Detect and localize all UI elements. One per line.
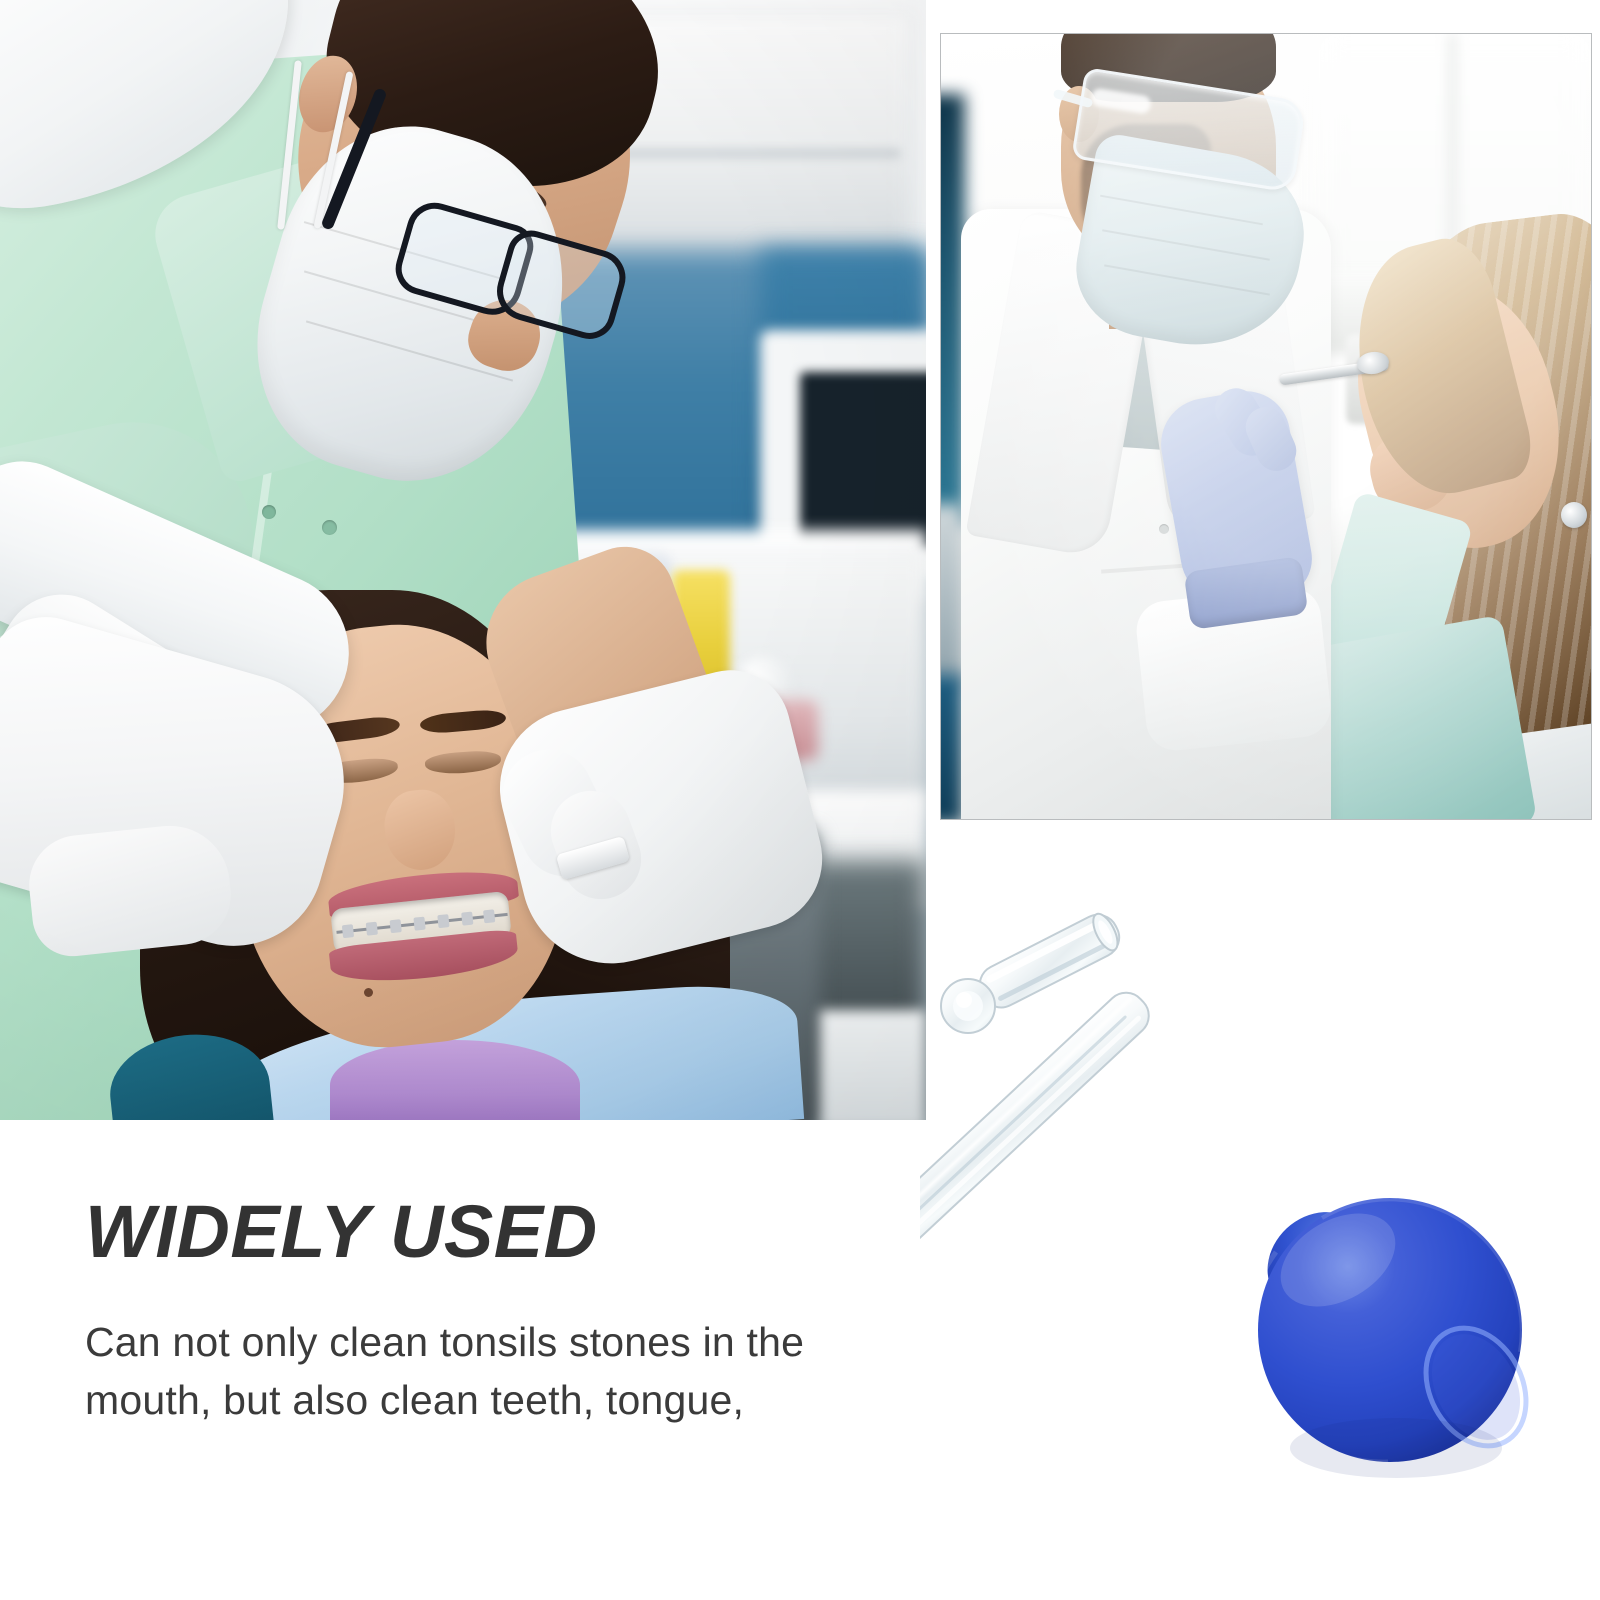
patient-collar bbox=[330, 1040, 580, 1120]
body-line-2: mouth, but also clean teeth, tongue, bbox=[85, 1371, 885, 1429]
photo-dentist-braces-patient bbox=[0, 0, 926, 1120]
marketing-copy-block: WIDELY USED Can not only clean tonsils s… bbox=[85, 1195, 885, 1429]
braces-bracket bbox=[437, 914, 449, 928]
page-title: WIDELY USED bbox=[85, 1195, 885, 1269]
braces-bracket bbox=[390, 919, 402, 933]
braces-bracket bbox=[461, 912, 473, 926]
scrub-button-upper bbox=[262, 505, 276, 519]
scrub-button-lower bbox=[322, 520, 337, 535]
blue-rubber-bulb bbox=[1247, 1192, 1546, 1478]
braces-bracket bbox=[413, 917, 425, 931]
hair-clip bbox=[1561, 502, 1587, 528]
clinic-left-wall-mid bbox=[940, 504, 963, 684]
braces-bracket bbox=[366, 922, 378, 936]
promo-canvas: WIDELY USED Can not only clean tonsils s… bbox=[0, 0, 1600, 1600]
patient-mole bbox=[364, 988, 373, 997]
coat-button-lower bbox=[1159, 524, 1169, 534]
braces-bracket bbox=[483, 909, 495, 923]
clinic-monitor-screen bbox=[800, 372, 926, 547]
photo-dentist-blonde-patient bbox=[940, 33, 1592, 820]
braces-bracket bbox=[342, 924, 354, 938]
product-image-glass-irrigator bbox=[920, 900, 1600, 1600]
body-line-1: Can not only clean tonsils stones in the bbox=[85, 1313, 885, 1371]
clinic-left-wall-low bbox=[940, 674, 963, 820]
clinic-light-panel bbox=[820, 1010, 926, 1120]
glass-tube-body bbox=[920, 985, 1157, 1310]
